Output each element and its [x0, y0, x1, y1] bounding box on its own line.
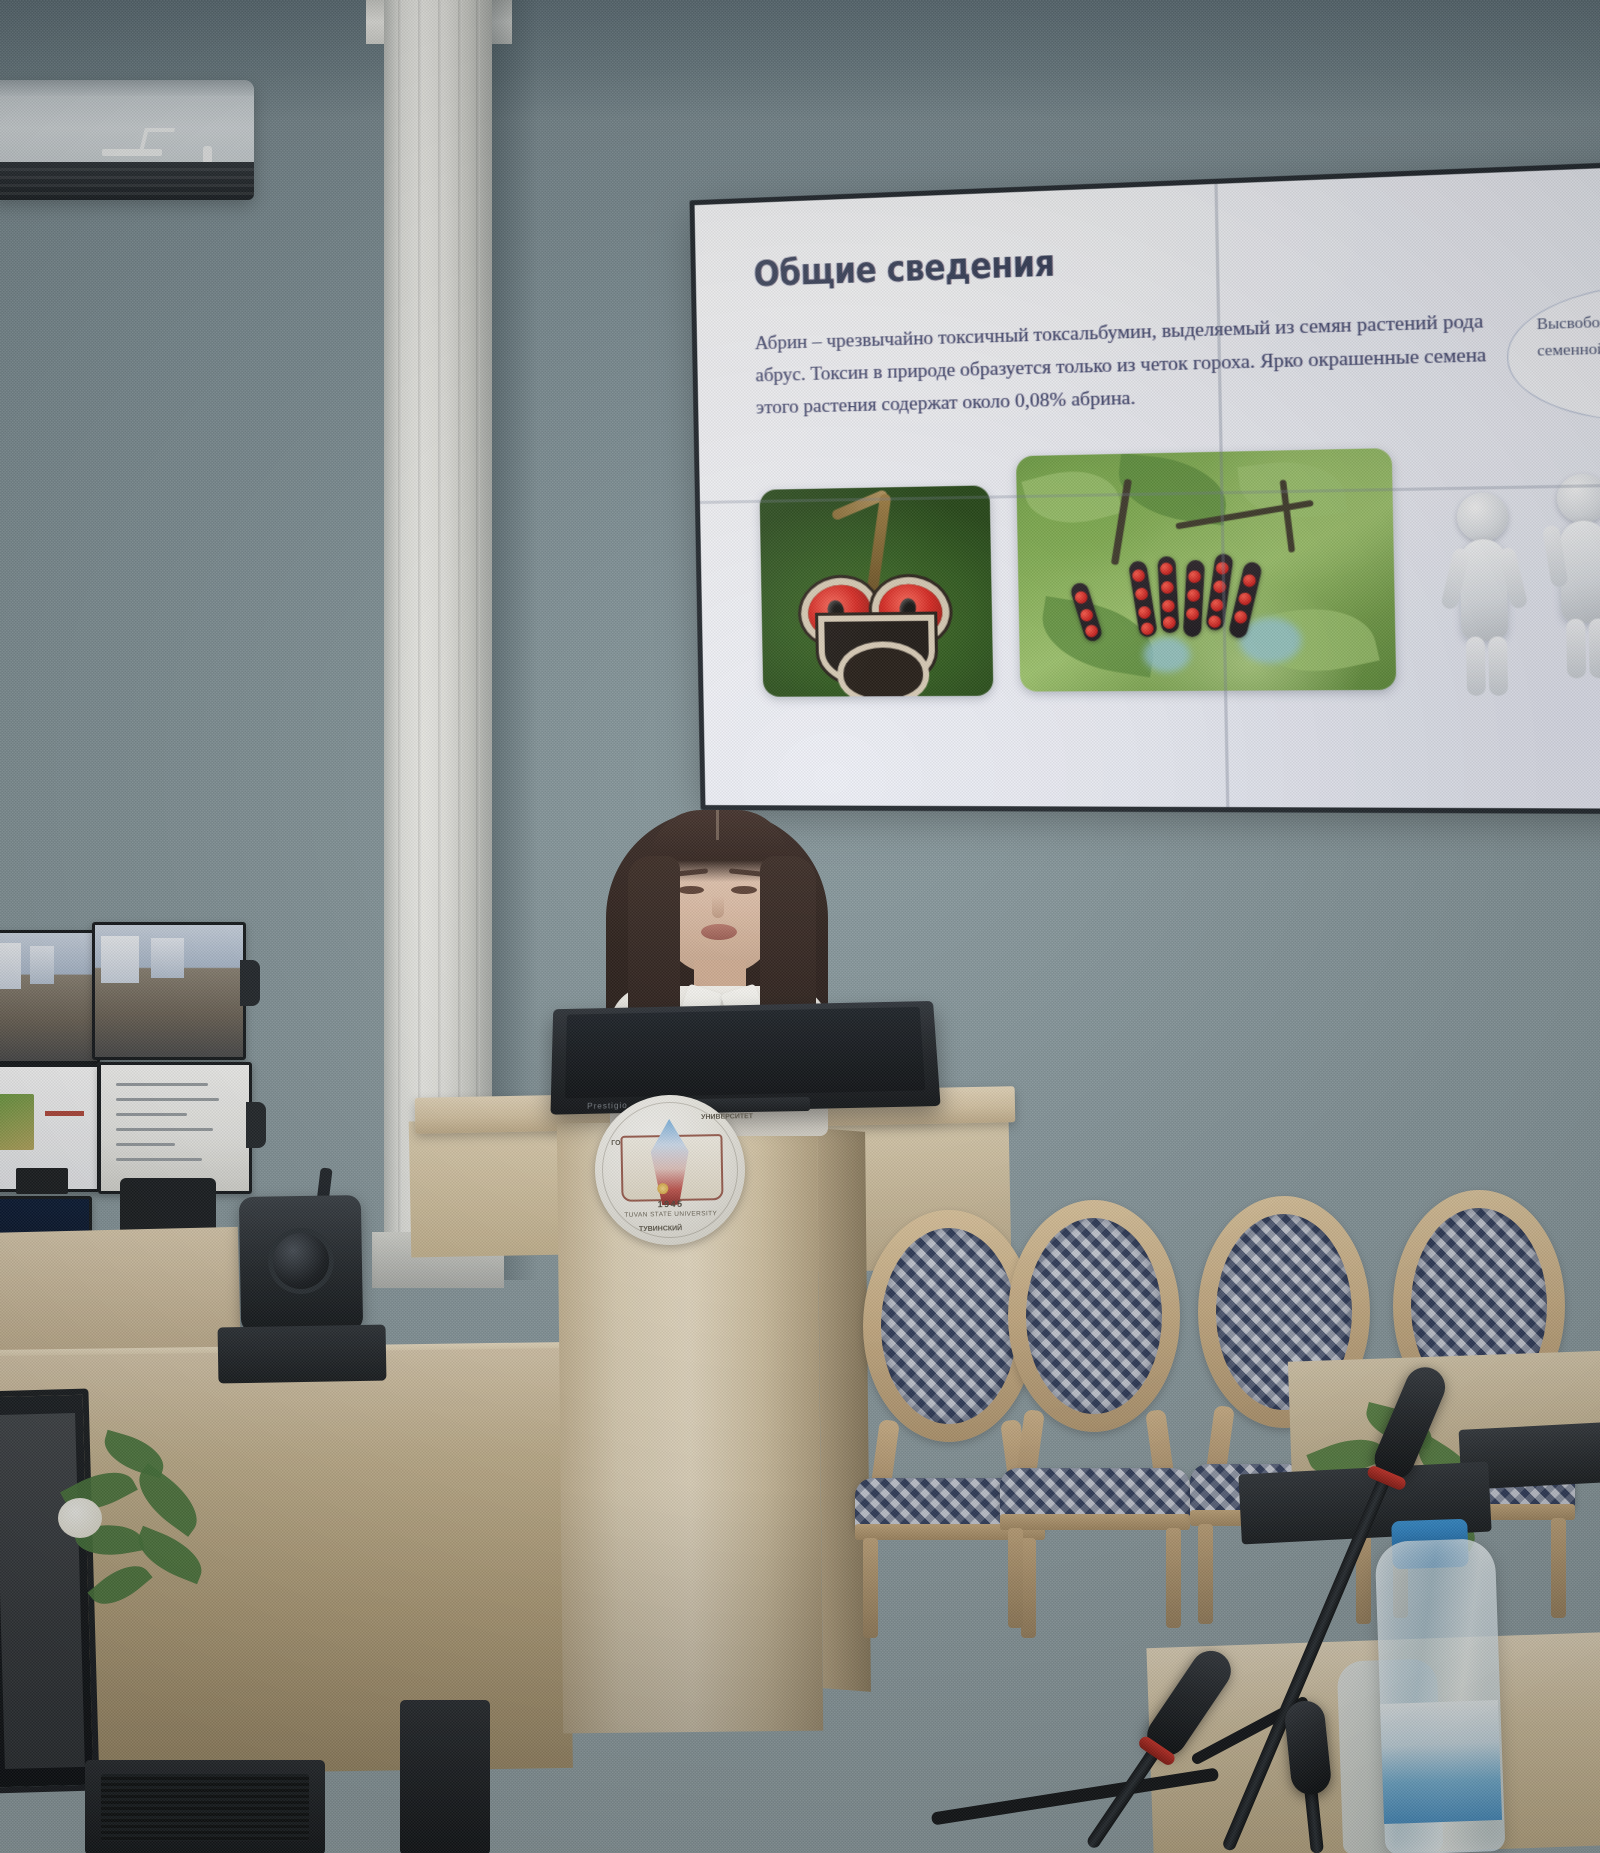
bottle-label — [1380, 1700, 1502, 1824]
camera-base — [218, 1325, 387, 1384]
emblem-arc-left: ТУВИНСКИЙ — [639, 1225, 682, 1233]
floor-speaker-center — [400, 1700, 490, 1853]
slide-photo-abrus-plant — [1016, 448, 1396, 692]
podium-left-wing — [409, 1118, 572, 1257]
presenter-mouth — [701, 924, 737, 940]
presentation-screen: Общие сведения Абрин – чрезвычайно токси… — [695, 166, 1600, 809]
wall-monitor-1 — [0, 930, 100, 1064]
presenter-eye-left — [678, 886, 704, 894]
camera-lens-icon — [268, 1228, 334, 1294]
photo-scene: Общие сведения Абрин – чрезвычайно токси… — [0, 0, 1600, 1853]
ac-vent — [0, 162, 254, 200]
wall-monitor-4 — [98, 1062, 252, 1194]
emblem-arc-right: УНИВЕРСИТЕТ — [701, 1113, 753, 1121]
presenter-eye-right — [731, 886, 757, 894]
slide-photo-3d-figures — [1432, 462, 1600, 711]
presenter-nose — [712, 896, 724, 918]
decorative-flower — [58, 1498, 102, 1538]
ac-display-strip — [102, 149, 162, 156]
wall-column — [384, 0, 492, 1280]
column-shadow — [492, 0, 538, 1280]
university-emblem: ГОСУДАРСТВЕННЫЙ ТУВИНСКИЙ УНИВЕРСИТЕТ 19… — [594, 1094, 747, 1247]
presenter-hair-part — [716, 810, 719, 840]
slide-photo-seed-pod — [760, 485, 994, 696]
monitor-stand-a — [16, 1168, 68, 1194]
wall-monitor-2 — [92, 922, 246, 1060]
chair-2 — [1000, 1200, 1190, 1620]
podium-monitor-screen — [565, 1007, 925, 1098]
floor-speaker-left — [85, 1760, 325, 1853]
monitor-mount-4 — [246, 1102, 266, 1148]
monitor-mount-2 — [240, 960, 260, 1006]
air-conditioner — [0, 80, 254, 200]
ac-top-panel — [0, 80, 254, 96]
video-wall: Общие сведения Абрин – чрезвычайно токси… — [695, 166, 1600, 809]
